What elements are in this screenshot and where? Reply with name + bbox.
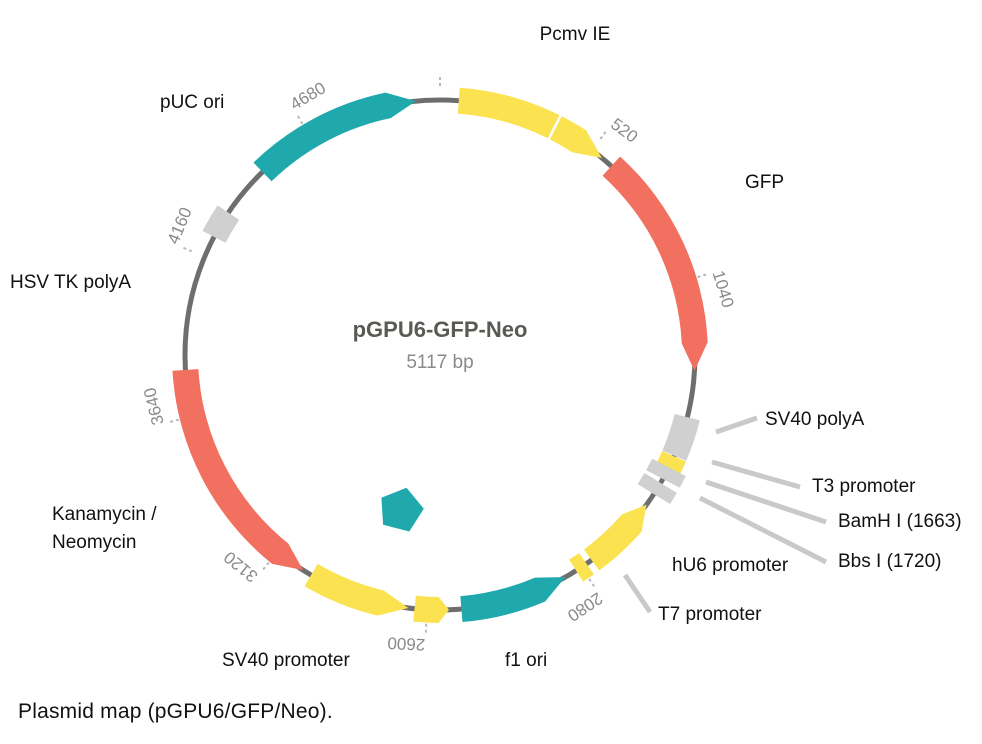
label-t7-promoter: T7 promoter — [658, 604, 762, 625]
tick-mark-1040 — [697, 274, 708, 277]
tick-label-4160: 4160 — [164, 205, 196, 247]
t7-leader — [625, 575, 650, 612]
feature-gfp[interactable] — [603, 157, 708, 371]
label-pcmv-ie: Pcmv IE — [540, 24, 611, 45]
feature-puc-ori[interactable] — [253, 93, 415, 182]
t3-leader — [712, 462, 800, 487]
feature-unnamed-9[interactable] — [413, 596, 449, 623]
tick-mark-3640 — [167, 420, 179, 423]
label-gfp: GFP — [745, 172, 784, 193]
tick-label-2080: 2080 — [564, 588, 606, 625]
figure-caption: Plasmid map (pGPU6/GFP/Neo). — [18, 700, 333, 724]
label-hsv-tk-polya: HSV TK polyA — [10, 272, 131, 293]
label-kanamycin: Kanamycin / — [52, 504, 157, 525]
feature-sv40-promoter[interactable] — [305, 564, 409, 616]
label-bamh-i-1663: BamH I (1663) — [838, 511, 962, 532]
label-neomycin: Neomycin — [52, 532, 136, 553]
feature-kanamycin-neomycin[interactable] — [172, 369, 303, 570]
feature-pcmv-ie[interactable] — [458, 88, 602, 158]
feature-labels: Pcmv IEGFPSV40 polyAT3 promoterBamH I (1… — [10, 24, 962, 671]
plasmid-map-figure: 5201040208026003120364041604680 Pcmv IEG… — [0, 0, 982, 744]
label-hu6-promoter: hU6 promoter — [672, 555, 789, 576]
tick-mark-4680 — [296, 113, 302, 123]
tick-mark-2600 — [426, 624, 427, 636]
feature-hsv-tk-polya[interactable] — [202, 205, 239, 242]
feature-unnamed-14[interactable] — [381, 488, 423, 532]
bamhi-leader — [706, 482, 826, 522]
plasmid-size: 5117 bp — [406, 352, 473, 373]
label-t3-promoter: T3 promoter — [812, 476, 916, 497]
tick-mark-2080 — [589, 579, 596, 589]
plasmid-name: pGPU6-GFP-Neo — [353, 317, 528, 342]
feature-hu6-promoter[interactable] — [584, 505, 647, 571]
label-sv40-polya: SV40 polyA — [765, 409, 865, 430]
tick-mark-520 — [600, 129, 607, 139]
bbsi-leader — [700, 498, 826, 562]
feature-f1-ori[interactable] — [460, 577, 565, 622]
tick-label-1040: 1040 — [708, 268, 737, 310]
label-leader-lines — [625, 418, 826, 612]
tick-label-2600: 2600 — [387, 633, 426, 654]
label-bbs-i-1720: Bbs I (1720) — [838, 551, 942, 572]
tick-mark-3120 — [261, 563, 269, 572]
tick-label-3640: 3640 — [140, 386, 168, 427]
label-sv40-promoter: SV40 promoter — [222, 650, 350, 671]
tick-mark-4160 — [181, 247, 192, 252]
tick-label-4680: 4680 — [287, 78, 329, 114]
tick-label-3120: 3120 — [220, 547, 261, 586]
sv40-polya-leader — [716, 418, 757, 432]
tick-label-520: 520 — [607, 114, 641, 146]
label-f1-ori: f1 ori — [505, 650, 547, 671]
plasmid-map-canvas: 5201040208026003120364041604680 Pcmv IEG… — [0, 0, 982, 744]
label-puc-ori: pUC ori — [160, 92, 224, 113]
